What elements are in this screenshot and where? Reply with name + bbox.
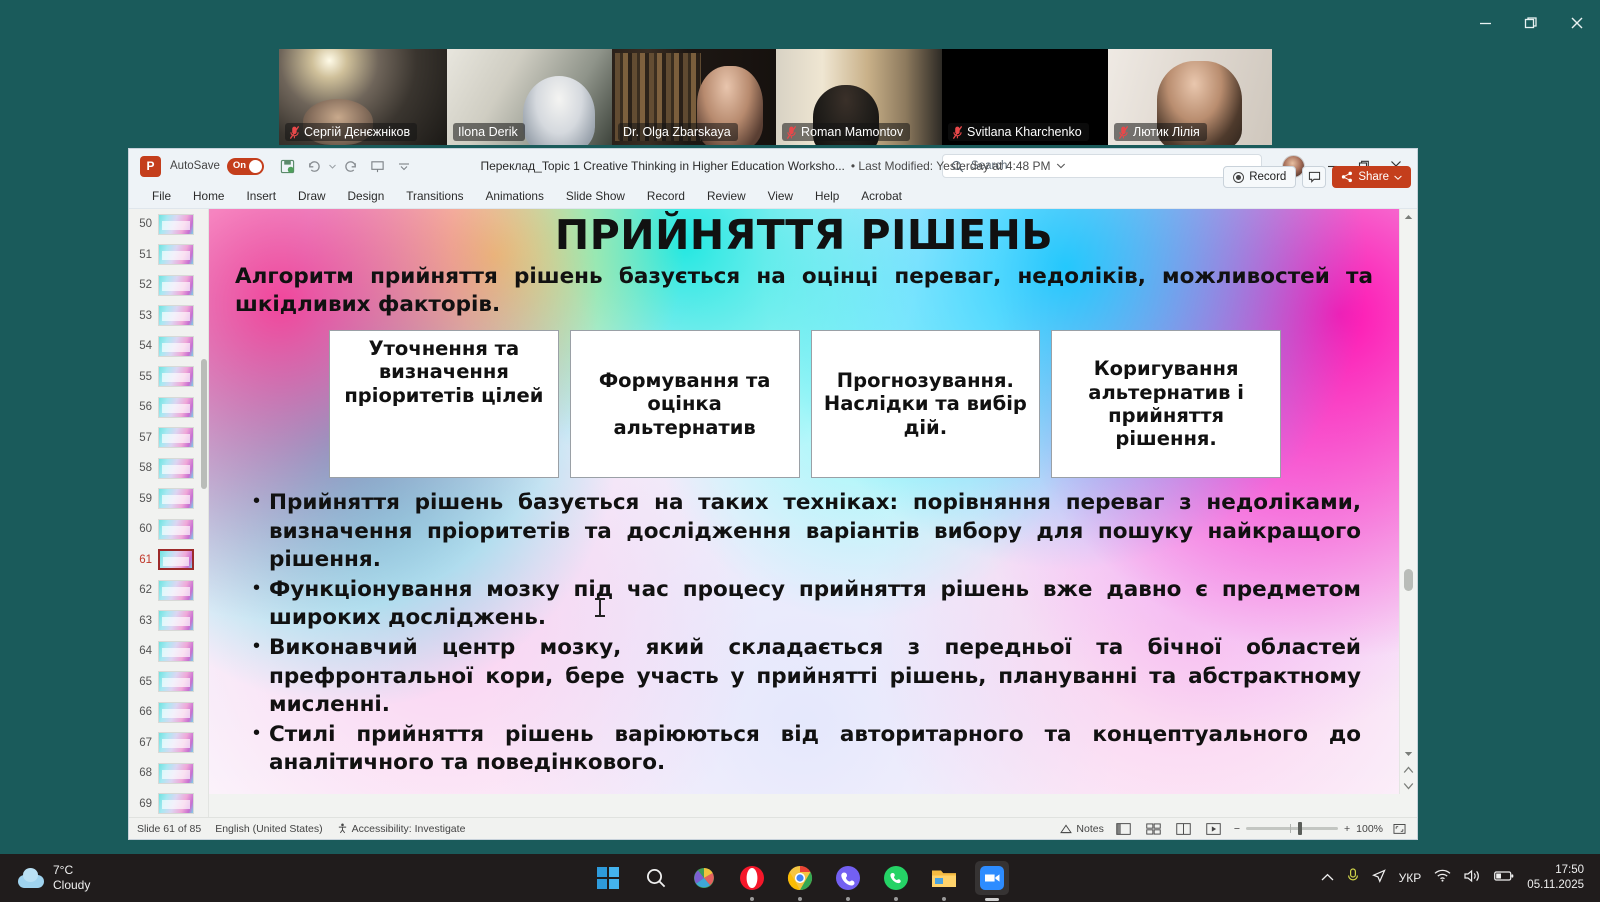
language-indicator[interactable]: English (United States): [215, 823, 322, 835]
battery-icon[interactable]: [1494, 869, 1514, 887]
slide-title[interactable]: ПРИЙНЯТТЯ РІШЕНЬ: [235, 215, 1373, 257]
bullet-dot-icon: •: [253, 721, 260, 778]
bullet-item[interactable]: • Прийняття рішень базується на таких те…: [253, 489, 1361, 575]
thumbnail-item[interactable]: 60: [129, 514, 208, 545]
zoom-slider[interactable]: − + 100%: [1234, 821, 1409, 837]
participant-tile[interactable]: Roman Mamontov: [776, 49, 942, 145]
tab-insert[interactable]: Insert: [235, 186, 287, 206]
ribbon-right-buttons: Record Share: [1223, 166, 1411, 188]
zoom-in-button[interactable]: +: [1344, 823, 1350, 835]
weather-text: 7°C Cloudy: [53, 863, 90, 893]
accessibility-icon: [337, 823, 348, 834]
share-icon: [1341, 171, 1353, 183]
thumbnail-image[interactable]: [158, 671, 194, 692]
thumbnail-number: 64: [133, 645, 152, 657]
participant-name-badge: Лютик Лілія: [1114, 123, 1207, 141]
thumbnail-item-selected[interactable]: 61: [129, 545, 208, 576]
thumbnail-item[interactable]: 56: [129, 392, 208, 423]
participant-name: Ilona Derik: [458, 125, 518, 139]
record-button-label: Record: [1249, 171, 1286, 183]
thumbnail-item[interactable]: 51: [129, 240, 208, 271]
powerpoint-window: P AutoSave On: [128, 148, 1418, 840]
process-box-4[interactable]: Коригування альтернатив і прийняття ріше…: [1051, 330, 1281, 478]
thumbnail-image[interactable]: [158, 793, 194, 814]
volume-icon[interactable]: [1464, 869, 1481, 888]
accessibility-status[interactable]: Accessibility: Investigate: [337, 823, 466, 835]
slideshow-view-button[interactable]: [1204, 821, 1224, 837]
thumbnail-number: 59: [133, 493, 152, 505]
comment-icon: [1308, 171, 1321, 183]
document-status: • Last Modified: Yesterday at 4:48 PM: [851, 159, 1051, 173]
participant-tile[interactable]: Ilona Derik: [447, 49, 612, 145]
next-slide-icon[interactable]: [1400, 778, 1418, 794]
taskbar-clock[interactable]: 17:50 05.11.2025: [1527, 863, 1584, 893]
thumbnail-number: 62: [133, 584, 152, 596]
bullet-text: Прийняття рішень базується на таких техн…: [269, 489, 1361, 575]
share-chevron-icon: [1394, 175, 1402, 180]
file-explorer-app[interactable]: [927, 861, 961, 895]
participant-name-badge: Roman Mamontov: [782, 123, 910, 141]
thumbnail-item[interactable]: 63: [129, 606, 208, 637]
thumbnail-number: 56: [133, 401, 152, 413]
slide-lead-paragraph[interactable]: Алгоритм прийняття рішень базується на о…: [235, 263, 1373, 320]
process-box-1-text: Уточнення та визначення пріоритетів ціле…: [336, 337, 552, 407]
thumbnail-item[interactable]: 50: [129, 209, 208, 240]
participant-filmstrip: Сергій Дєнєжніков Ilona Derik Dr. Olga Z…: [279, 49, 1272, 145]
powerpoint-body: 50 51 52 53 54 55 56 57 58 59 60 61 62 6…: [129, 209, 1417, 817]
zoom-default-mark: [1290, 824, 1291, 833]
whatsapp-app[interactable]: [879, 861, 913, 895]
accessibility-label: Accessibility: Investigate: [352, 823, 466, 835]
bullet-text: Стилі прийняття рішень варіюються від ав…: [269, 721, 1361, 778]
thumbnail-item[interactable]: 53: [129, 301, 208, 332]
process-box-1[interactable]: Уточнення та визначення пріоритетів ціле…: [329, 330, 559, 478]
previous-slide-icon[interactable]: [1400, 762, 1418, 778]
participant-tile[interactable]: Сергій Дєнєжніков: [279, 49, 447, 145]
weather-condition: Cloudy: [53, 878, 90, 892]
participant-tile[interactable]: Лютик Лілія: [1108, 49, 1272, 145]
slide-process-boxes: Уточнення та визначення пріоритетів ціле…: [235, 330, 1373, 478]
undo-dropdown-icon[interactable]: [328, 154, 338, 178]
autosave-toggle[interactable]: On: [227, 158, 264, 175]
thumbnail-image[interactable]: [158, 549, 194, 570]
scroll-bottom-controls: [1400, 746, 1418, 794]
thumbnail-image[interactable]: [158, 580, 194, 601]
zoom-window-titlebar: [0, 0, 1600, 46]
quick-access-toolbar: [276, 154, 416, 178]
powerpoint-logo-icon: P: [140, 156, 161, 177]
notes-icon: [1060, 824, 1072, 834]
thumbnail-item[interactable]: 55: [129, 362, 208, 393]
viber-app[interactable]: [831, 861, 865, 895]
thumbnail-item[interactable]: 54: [129, 331, 208, 362]
clock-time: 17:50: [1555, 864, 1584, 876]
participant-tile[interactable]: Svitlana Kharchenko: [942, 49, 1108, 145]
thumbnail-image[interactable]: [158, 214, 194, 235]
thumbnail-image[interactable]: [158, 732, 194, 753]
participant-name: Сергій Дєнєжніков: [304, 125, 410, 139]
thumbnail-number: 67: [133, 737, 152, 749]
zoom-level[interactable]: 100%: [1356, 823, 1383, 835]
weather-temperature: 7°C: [53, 863, 73, 877]
slide-surface[interactable]: ПРИЙНЯТТЯ РІШЕНЬ Алгоритм прийняття ріше…: [209, 209, 1399, 794]
customize-qat-icon[interactable]: [392, 154, 416, 178]
tab-acrobat[interactable]: Acrobat: [850, 186, 913, 206]
tab-draw[interactable]: Draw: [287, 186, 337, 206]
bullet-dot-icon: •: [253, 489, 260, 575]
tab-file[interactable]: File: [141, 186, 182, 206]
thumbnail-number: 68: [133, 767, 152, 779]
thumbnail-item[interactable]: 58: [129, 453, 208, 484]
bullet-dot-icon: •: [253, 634, 260, 720]
share-button-label: Share: [1358, 171, 1389, 183]
participant-tile-active[interactable]: Dr. Olga Zbarskaya: [612, 49, 776, 145]
present-icon[interactable]: [366, 154, 390, 178]
participant-name: Roman Mamontov: [801, 125, 903, 139]
bullet-item[interactable]: • Виконавчий центр мозку, який складаєть…: [253, 634, 1361, 720]
weather-widget[interactable]: 7°C Cloudy: [0, 863, 90, 893]
participant-name-badge: Dr. Olga Zbarskaya: [618, 123, 738, 141]
document-title: Переклад_Topic 1 Creative Thinking in Hi…: [480, 159, 844, 173]
autosave-state: On: [233, 160, 246, 171]
thumbnail-number: 58: [133, 462, 152, 474]
system-tray: УКР: [1321, 863, 1600, 893]
ribbon-tabs: File Home Insert Draw Design Transitions…: [129, 183, 1417, 209]
thumbnail-number: 53: [133, 310, 152, 322]
autosave-label: AutoSave: [170, 160, 220, 172]
participant-name-badge: Svitlana Kharchenko: [948, 123, 1089, 141]
start-button[interactable]: [591, 861, 625, 895]
chrome-app[interactable]: [783, 861, 817, 895]
participant-name-badge: Ilona Derik: [453, 123, 525, 141]
thumbnail-number: 69: [133, 798, 152, 810]
thumbnail-image[interactable]: [158, 244, 194, 265]
thumbnail-number: 51: [133, 249, 152, 261]
thumbnail-image[interactable]: [158, 610, 194, 631]
chevron-down-icon[interactable]: [1057, 163, 1066, 169]
tab-help[interactable]: Help: [804, 186, 850, 206]
bullet-text: Функціонування мозку під час процесу при…: [269, 576, 1361, 633]
location-icon[interactable]: [1372, 869, 1386, 888]
toggle-knob: [249, 160, 262, 173]
thumbnail-item[interactable]: 62: [129, 575, 208, 606]
search-button[interactable]: [639, 861, 673, 895]
thumbnail-image[interactable]: [158, 275, 194, 296]
muted-mic-icon: [787, 126, 796, 139]
thumbnail-item[interactable]: 52: [129, 270, 208, 301]
microphone-icon[interactable]: [1347, 868, 1359, 889]
thumbnail-number: 52: [133, 279, 152, 291]
tab-animations[interactable]: Animations: [475, 186, 555, 206]
bullet-text: Виконавчий центр мозку, який складається…: [269, 634, 1361, 720]
normal-view-button[interactable]: [1114, 821, 1134, 837]
tab-review[interactable]: Review: [696, 186, 757, 206]
process-box-2-text: Формування та оцінка альтернатив: [577, 369, 793, 439]
slide-vertical-scrollbar[interactable]: [1399, 209, 1417, 794]
thumbnail-item[interactable]: 67: [129, 728, 208, 759]
thumbnail-item[interactable]: 69: [129, 789, 208, 818]
notes-button[interactable]: Notes: [1060, 823, 1103, 835]
undo-icon[interactable]: [302, 154, 326, 178]
zoom-out-button[interactable]: −: [1234, 823, 1240, 835]
record-dot-icon: [1233, 172, 1244, 183]
share-button[interactable]: Share: [1332, 166, 1411, 188]
thumbnail-image[interactable]: [158, 366, 194, 387]
thumbnail-scrollbar-thumb[interactable]: [201, 359, 207, 489]
restore-icon[interactable]: [1508, 0, 1554, 46]
thumbnail-number: 60: [133, 523, 152, 535]
slide-sorter-view-button[interactable]: [1144, 821, 1164, 837]
thumbnail-item[interactable]: 65: [129, 667, 208, 698]
tab-record[interactable]: Record: [636, 186, 696, 206]
thumbnail-number: 50: [133, 218, 152, 230]
process-box-3[interactable]: Прогнозування. Наслідки та вибір дій.: [811, 330, 1041, 478]
record-button[interactable]: Record: [1223, 166, 1296, 188]
close-icon[interactable]: [1554, 0, 1600, 46]
bullet-item[interactable]: • Функціонування мозку під час процесу п…: [253, 576, 1361, 633]
status-bar-right: Notes: [1060, 821, 1409, 837]
screen: Сергій Дєнєжніков Ilona Derik Dr. Olga Z…: [0, 0, 1600, 902]
thumbnail-number: 55: [133, 371, 152, 383]
thumbnail-number: 66: [133, 706, 152, 718]
tab-view[interactable]: View: [757, 186, 804, 206]
bullet-dot-icon: •: [253, 576, 260, 633]
thumbnail-number: 63: [133, 615, 152, 627]
thumbnail-number: 65: [133, 676, 152, 688]
thumbnail-item[interactable]: 64: [129, 636, 208, 667]
process-box-3-text: Прогнозування. Наслідки та вибір дій.: [818, 369, 1034, 439]
language-indicator[interactable]: УКР: [1399, 871, 1422, 885]
thumbnail-image[interactable]: [158, 488, 194, 509]
thumbnail-number: 61: [133, 554, 152, 566]
thumbnail-item[interactable]: 57: [129, 423, 208, 454]
bullet-item[interactable]: • Стилі прийняття рішень варіюються від …: [253, 721, 1361, 778]
participant-name-badge: Сергій Дєнєжніков: [285, 123, 417, 141]
slide-canvas[interactable]: ПРИЙНЯТТЯ РІШЕНЬ Алгоритм прийняття ріше…: [209, 209, 1417, 817]
zoom-app[interactable]: [975, 861, 1009, 895]
slide-bullet-list[interactable]: • Прийняття рішень базується на таких те…: [235, 489, 1373, 778]
opera-app[interactable]: [735, 861, 769, 895]
muted-mic-icon: [953, 126, 962, 139]
tab-design[interactable]: Design: [337, 186, 396, 206]
taskbar-app-area: [591, 861, 1009, 895]
participant-name: Svitlana Kharchenko: [967, 125, 1082, 139]
powerpoint-status-bar: Slide 61 of 85 English (United States) A…: [129, 817, 1417, 839]
scroll-up-arrow-icon[interactable]: [1400, 209, 1418, 225]
slide-counter[interactable]: Slide 61 of 85: [137, 823, 201, 835]
thumbnail-image[interactable]: [158, 305, 194, 326]
minimize-icon[interactable]: [1462, 0, 1508, 46]
thumbnail-number: 54: [133, 340, 152, 352]
zoom-handle[interactable]: [1298, 822, 1302, 835]
thumbnail-image[interactable]: [158, 397, 194, 418]
thumbnail-item[interactable]: 59: [129, 484, 208, 515]
notes-label: Notes: [1076, 823, 1103, 835]
reading-view-button[interactable]: [1174, 821, 1194, 837]
fit-to-window-button[interactable]: [1389, 821, 1409, 837]
document-title-area[interactable]: Переклад_Topic 1 Creative Thinking in Hi…: [480, 159, 1065, 173]
thumbnail-image[interactable]: [158, 458, 194, 479]
redo-icon[interactable]: [340, 154, 364, 178]
process-box-4-text: Коригування альтернатив і прийняття ріше…: [1058, 357, 1274, 451]
scrollbar-thumb[interactable]: [1404, 569, 1413, 591]
thumbnail-image[interactable]: [158, 641, 194, 662]
widgets-button[interactable]: [687, 861, 721, 895]
tab-slide-show[interactable]: Slide Show: [555, 186, 636, 206]
wifi-icon[interactable]: [1434, 869, 1451, 887]
zoom-track[interactable]: [1246, 827, 1338, 830]
show-hidden-icons-button[interactable]: [1321, 869, 1334, 887]
tab-home[interactable]: Home: [182, 186, 235, 206]
clock-date: 05.11.2025: [1527, 879, 1584, 891]
thumbnail-image[interactable]: [158, 427, 194, 448]
participant-name: Dr. Olga Zbarskaya: [623, 125, 731, 139]
scroll-down-arrow-icon[interactable]: [1400, 746, 1418, 762]
thumbnail-image[interactable]: [158, 763, 194, 784]
thumbnail-image[interactable]: [158, 519, 194, 540]
text-cursor-icon: [599, 599, 601, 616]
windows-taskbar: 7°C Cloudy: [0, 854, 1600, 902]
process-box-2[interactable]: Формування та оцінка альтернатив: [570, 330, 800, 478]
thumbnail-number: 57: [133, 432, 152, 444]
thumbnail-image[interactable]: [158, 702, 194, 723]
slide-thumbnail-panel[interactable]: 50 51 52 53 54 55 56 57 58 59 60 61 62 6…: [129, 209, 209, 817]
cloud-icon: [18, 868, 44, 888]
participant-name: Лютик Лілія: [1133, 125, 1200, 139]
comments-button[interactable]: [1302, 166, 1326, 188]
save-icon[interactable]: [276, 154, 300, 178]
muted-mic-icon: [290, 126, 299, 139]
muted-mic-icon: [1119, 126, 1128, 139]
thumbnail-item[interactable]: 68: [129, 758, 208, 789]
thumbnail-image[interactable]: [158, 336, 194, 357]
thumbnail-item[interactable]: 66: [129, 697, 208, 728]
tab-transitions[interactable]: Transitions: [395, 186, 474, 206]
